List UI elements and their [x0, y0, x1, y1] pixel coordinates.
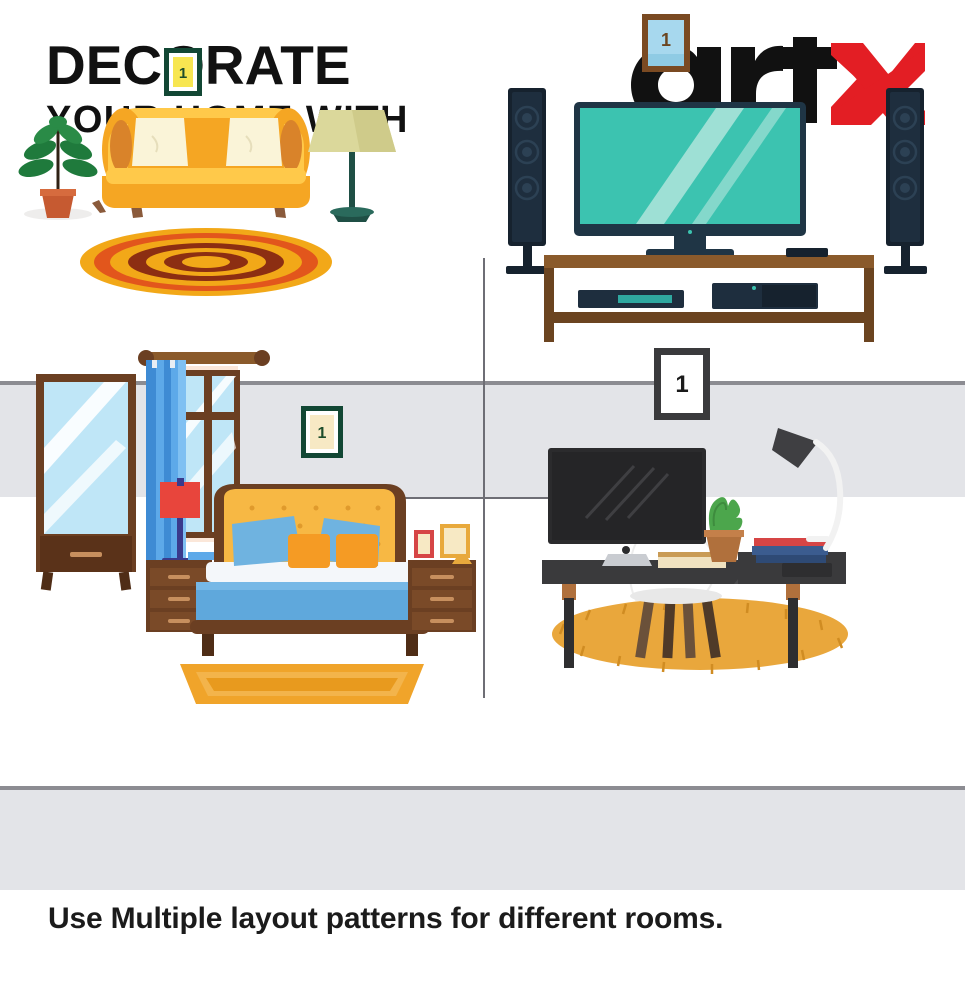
television[interactable]	[574, 102, 806, 258]
tv-room-scene: 1	[486, 0, 946, 330]
bed[interactable]	[190, 484, 430, 656]
wall-frame-tv-room: 1	[642, 14, 690, 72]
rectangular-rug-bedroom	[180, 664, 424, 704]
floor-lamp	[308, 110, 396, 222]
cactus	[704, 497, 744, 562]
potted-plant	[17, 116, 100, 220]
floor-band-bottom	[0, 790, 965, 890]
wall-frame-bedroom: 1	[301, 406, 343, 458]
photo-frames	[414, 524, 472, 564]
tower-speaker-left[interactable]	[506, 88, 549, 274]
wall-frame-living-room: 1	[164, 48, 202, 96]
home-office-scene: 1	[486, 338, 946, 706]
poster-canvas: DECORATE YOUR HOME WITH 1	[0, 0, 965, 1000]
bed-pillow-orange-right	[336, 534, 378, 568]
yellow-sofa	[92, 108, 310, 218]
bed-pillow-orange-left	[288, 534, 330, 568]
frame-number-bedroom: 1	[318, 425, 327, 442]
desk-lamp[interactable]	[772, 428, 840, 548]
console-devices	[578, 283, 818, 309]
divider-vertical	[483, 258, 485, 698]
mirror-wardrobe[interactable]	[36, 374, 136, 591]
nightstand-right[interactable]	[408, 560, 476, 632]
frame-number-tv-room: 1	[661, 30, 671, 50]
caption-text: Use Multiple layout patterns for differe…	[48, 902, 723, 936]
frame-number-living-room: 1	[179, 65, 187, 82]
tower-speaker-right[interactable]	[884, 88, 927, 274]
frame-number-home-office: 1	[675, 371, 688, 398]
sofa-pillow-left	[132, 118, 188, 166]
oval-rug-living-room	[80, 228, 332, 296]
wall-frame-home-office: 1	[654, 348, 710, 420]
sofa-pillow-right	[226, 118, 282, 166]
living-room-scene: 1	[20, 0, 480, 330]
round-shag-rug	[552, 598, 848, 674]
bedroom-scene: 1	[20, 338, 480, 706]
